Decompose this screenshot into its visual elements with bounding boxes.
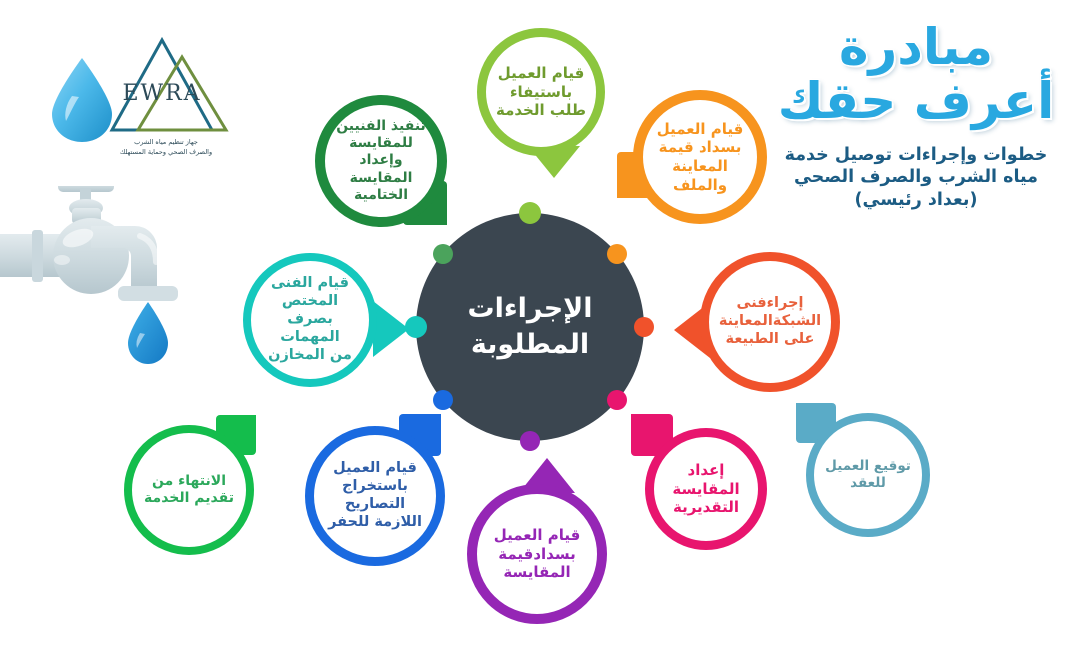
page-title-line-1: مبادرة	[766, 22, 1066, 72]
step-service-completed-label: الانتهاء منتقديم الخدمة	[136, 473, 242, 508]
step-estimate-measurement-ring[interactable]: إعدادالمقايسةالتقديرية	[645, 428, 767, 550]
step-issue-materials-from-stores-pointer	[373, 301, 409, 357]
faucet-icon	[0, 186, 211, 381]
step-service-request-ring[interactable]: قيام العميلباستيفاءطلب الخدمة	[477, 28, 605, 156]
page-title-line-2: أعرف حقك	[766, 76, 1066, 126]
step-pay-inspection-fee-label-line-4: والملف	[657, 176, 744, 195]
step-technicians-final-measurement-ring[interactable]: تنفيذ الفنيينللمقايسة وإعدادالمقايسة الخ…	[315, 95, 447, 227]
logo-arabic-caption: جهاز تنظيم مياه الشرب والصرف الصحي وحماي…	[86, 137, 246, 157]
center-hub-label-line-2: المطلوبة	[467, 327, 592, 363]
step-service-request-label-line-3: طلب الخدمة	[496, 101, 586, 120]
step-service-completed-label-line-1: الانتهاء من	[144, 473, 234, 490]
hub-dot-right	[634, 317, 654, 337]
step-pay-inspection-fee-label-line-1: قيام العميل	[657, 120, 744, 139]
step-pay-measurement-value[interactable]: قيام العميلبسدادقيمةالمقايسة	[467, 484, 607, 624]
logo-arabic-line-1: جهاز تنظيم مياه الشرب	[86, 137, 246, 147]
step-estimate-measurement-label-line-2: المقايسة	[672, 480, 739, 499]
svg-text:EWRA: EWRA	[122, 81, 201, 106]
step-service-completed-ring[interactable]: الانتهاء منتقديم الخدمة	[124, 425, 254, 555]
step-service-request-label: قيام العميلباستيفاءطلب الخدمة	[488, 64, 594, 120]
step-pay-inspection-fee-label: قيام العميلبسداد قيمةالمعاينةوالملف	[649, 120, 752, 194]
center-hub-label-line-1: الإجراءات	[467, 291, 592, 327]
step-obtain-digging-permits-label-line-3: التصاريح	[328, 496, 422, 514]
page-subtitle-line-3: (بعداد رئيسي)	[766, 189, 1066, 211]
step-network-site-inspection-label-line-3: على الطبيعة	[719, 331, 821, 349]
step-service-request[interactable]: قيام العميلباستيفاءطلب الخدمة	[477, 28, 605, 156]
page-subtitle: خطوات وإجراءات توصيل خدمة مياه الشرب وال…	[766, 144, 1066, 211]
step-sign-contract[interactable]: توقيع العميلللعقد	[806, 413, 930, 537]
step-pay-measurement-value-label-line-1: قيام العميل	[494, 526, 581, 545]
step-issue-materials-from-stores-label-line-1: قيام الفنى	[259, 275, 361, 293]
faucet-illustration	[0, 186, 211, 385]
step-estimate-measurement-label: إعدادالمقايسةالتقديرية	[664, 461, 747, 517]
hub-dot-bottom	[520, 431, 540, 451]
page-subtitle-line-2: مياه الشرب والصرف الصحي	[766, 166, 1066, 188]
step-pay-inspection-fee-label-line-2: بسداد قيمة	[657, 138, 744, 157]
step-pay-inspection-fee[interactable]: قيام العميلبسداد قيمةالمعاينةوالملف	[633, 90, 767, 224]
step-obtain-digging-permits-label-line-4: اللازمة للحفر	[328, 514, 422, 532]
step-pay-measurement-value-ring[interactable]: قيام العميلبسدادقيمةالمقايسة	[467, 484, 607, 624]
step-issue-materials-from-stores-label: قيام الفنىالمختص بصرفالمهماتمن المخازن	[251, 275, 369, 365]
step-network-site-inspection[interactable]: إجراءفنىالشبكةالمعاينةعلى الطبيعة	[700, 252, 840, 392]
header-block: مبادرة أعرف حقك خطوات وإجراءات توصيل خدم…	[766, 22, 1066, 211]
step-technicians-final-measurement-label: تنفيذ الفنيينللمقايسة وإعدادالمقايسة الخ…	[325, 118, 437, 205]
hub-dot-top-left	[433, 244, 453, 264]
step-sign-contract-label-line-1: توقيع العميل	[825, 458, 911, 475]
step-obtain-digging-permits-label-line-2: باستخراج	[328, 478, 422, 496]
step-estimate-measurement[interactable]: إعدادالمقايسةالتقديرية	[645, 428, 767, 550]
infographic-canvas: EWRA جهاز تنظيم مياه الشرب والصرف الصحي …	[0, 0, 1080, 653]
step-estimate-measurement-label-line-3: التقديرية	[672, 498, 739, 517]
step-issue-materials-from-stores-label-line-4: من المخازن	[259, 347, 361, 365]
step-sign-contract-ring[interactable]: توقيع العميلللعقد	[806, 413, 930, 537]
step-obtain-digging-permits[interactable]: قيام العميلباستخراجالتصاريحاللازمة للحفر	[305, 426, 445, 566]
step-service-completed[interactable]: الانتهاء منتقديم الخدمة	[124, 425, 254, 555]
step-pay-measurement-value-label-line-3: المقايسة	[494, 563, 581, 582]
step-estimate-measurement-label-line-1: إعداد	[672, 461, 739, 480]
step-obtain-digging-permits-ring[interactable]: قيام العميلباستخراجالتصاريحاللازمة للحفر	[305, 426, 445, 566]
hub-dot-bottom-right	[607, 390, 627, 410]
step-issue-materials-from-stores-label-line-3: المهمات	[259, 329, 361, 347]
center-hub-label: الإجراءات المطلوبة	[467, 291, 592, 364]
step-pay-inspection-fee-ring[interactable]: قيام العميلبسداد قيمةالمعاينةوالملف	[633, 90, 767, 224]
step-network-site-inspection-label-line-1: إجراءفنى	[719, 295, 821, 313]
step-network-site-inspection-label: إجراءفنىالشبكةالمعاينةعلى الطبيعة	[711, 295, 829, 349]
step-network-site-inspection-ring[interactable]: إجراءفنىالشبكةالمعاينةعلى الطبيعة	[700, 252, 840, 392]
step-pay-measurement-value-label: قيام العميلبسدادقيمةالمقايسة	[486, 526, 589, 582]
page-subtitle-line-1: خطوات وإجراءات توصيل خدمة	[766, 144, 1066, 166]
step-sign-contract-label: توقيع العميلللعقد	[817, 458, 919, 491]
hub-dot-bottom-left	[433, 390, 453, 410]
step-issue-materials-from-stores[interactable]: قيام الفنىالمختص بصرفالمهماتمن المخازن	[243, 253, 377, 387]
step-pay-measurement-value-label-line-2: بسدادقيمة	[494, 545, 581, 564]
step-obtain-digging-permits-label-line-1: قيام العميل	[328, 460, 422, 478]
step-network-site-inspection-label-line-2: الشبكةالمعاينة	[719, 313, 821, 331]
step-technicians-final-measurement-label-line-1: تنفيذ الفنيين	[333, 118, 429, 135]
step-sign-contract-label-line-2: للعقد	[825, 475, 911, 492]
logo-arabic-line-2: والصرف الصحي وحماية المستهلك	[86, 147, 246, 157]
step-technicians-final-measurement[interactable]: تنفيذ الفنيينللمقايسة وإعدادالمقايسة الخ…	[315, 95, 447, 227]
step-issue-materials-from-stores-ring[interactable]: قيام الفنىالمختص بصرفالمهماتمن المخازن	[243, 253, 377, 387]
step-technicians-final-measurement-label-line-2: للمقايسة وإعداد	[333, 135, 429, 170]
hub-dot-top-right	[607, 244, 627, 264]
step-obtain-digging-permits-label: قيام العميلباستخراجالتصاريحاللازمة للحفر	[320, 460, 430, 532]
step-pay-inspection-fee-label-line-3: المعاينة	[657, 157, 744, 176]
water-drop-icon	[128, 302, 168, 364]
step-service-request-label-line-1: قيام العميل	[496, 64, 586, 83]
step-technicians-final-measurement-label-line-3: المقايسة الختامية	[333, 170, 429, 205]
step-issue-materials-from-stores-label-line-2: المختص بصرف	[259, 293, 361, 329]
ewra-logo: EWRA جهاز تنظيم مياه الشرب والصرف الصحي …	[34, 22, 244, 172]
step-service-completed-label-line-2: تقديم الخدمة	[144, 490, 234, 507]
hub-dot-top	[519, 202, 541, 224]
step-service-request-label-line-2: باستيفاء	[496, 83, 586, 102]
